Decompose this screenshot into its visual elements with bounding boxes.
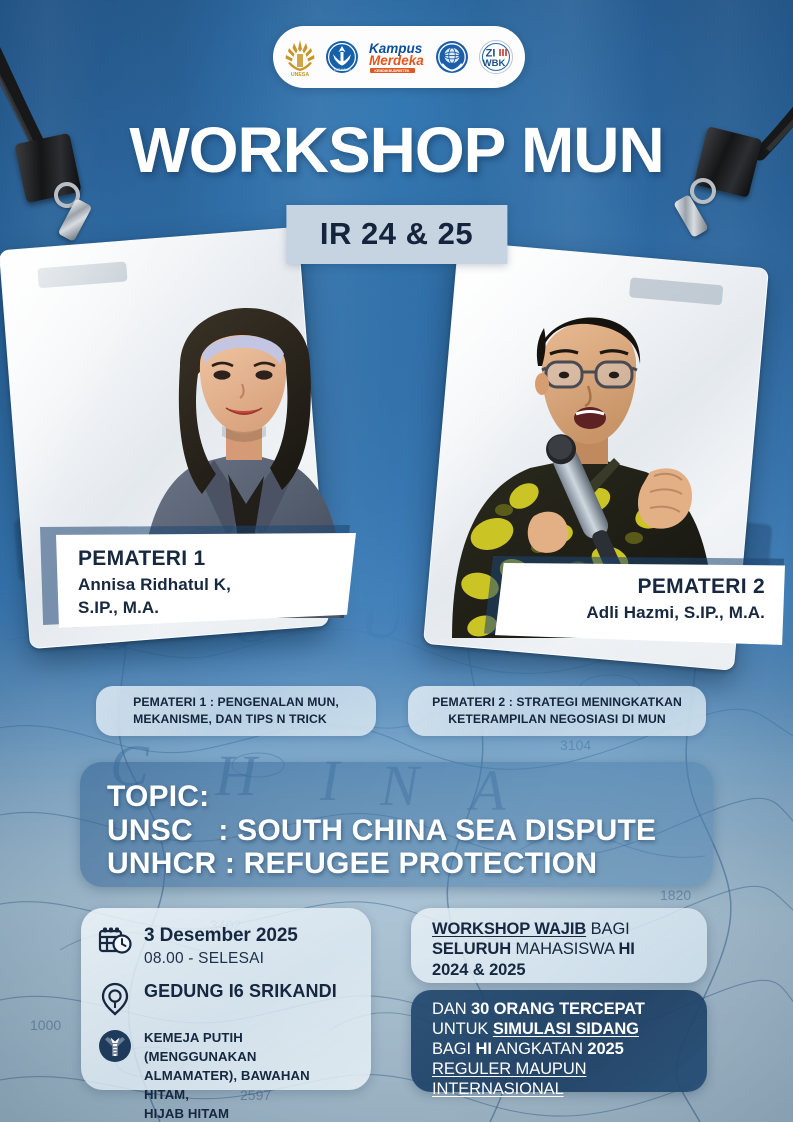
- topic-unhcr: UNHCR : REFUGEE PROTECTION: [107, 847, 713, 881]
- notice-simulation: DAN 30 ORANG TERCEPAT UNTUK SIMULASI SID…: [411, 990, 707, 1092]
- topic-heading: TOPIC:: [107, 780, 713, 814]
- svg-text:WBK: WBK: [483, 58, 506, 69]
- notice-simulation-l2a: UNTUK: [432, 1020, 493, 1038]
- info-row-date: 3 Desember 2025 08.00 - SELESAI: [97, 924, 357, 969]
- name-banner-left: PEMATERI 1 Annisa Ridhatul K, S.IP., M.A…: [56, 533, 356, 628]
- session-2-line2: KETERAMPILAN NEGOSIASI DI MUN: [448, 712, 666, 726]
- notice-mandatory-l2a: SELURUH: [432, 940, 511, 958]
- name-banner-right: PEMATERI 2 Adli Hazmi, S.IP., M.A.: [495, 563, 785, 645]
- poster-subtitle: IR 24 & 25: [320, 216, 473, 251]
- dress-code-line3: HIJAB HITAM: [144, 1104, 357, 1122]
- session-1-line1: PEMATERI 1 : PENGENALAN MUN,: [133, 695, 339, 709]
- dress-code-line1: KEMEJA PUTIH (MENGGUNAKAN: [144, 1028, 357, 1066]
- event-time: 08.00 - SELESAI: [144, 949, 357, 968]
- zi-wbk-logo: ZI WBK: [477, 38, 515, 76]
- speaker-1-role: PEMATERI 1: [78, 546, 340, 572]
- session-pill-1: PEMATERI 1 : PENGENALAN MUN, MEKANISME, …: [96, 686, 376, 736]
- notice-simulation-line1: DAN 30 ORANG TERCEPAT: [432, 1000, 707, 1020]
- notice-simulation-l3d: 2025: [587, 1040, 623, 1058]
- notice-simulation-l3a: BAGI: [432, 1040, 476, 1058]
- notice-mandatory-l1a: WORKSHOP WAJIB: [432, 920, 586, 938]
- topic-panel: TOPIC: UNSC : SOUTH CHINA SEA DISPUTE UN…: [80, 762, 713, 887]
- notice-simulation-l1a: DAN: [432, 1000, 471, 1018]
- session-1-line2: MEKANISME, DAN TIPS N TRICK: [133, 712, 327, 726]
- calendar-clock-icon: [97, 924, 133, 958]
- notice-simulation-l2b: SIMULASI SIDANG: [493, 1020, 639, 1038]
- notice-simulation-line3: BAGI HI ANGKATAN 2025: [432, 1040, 707, 1060]
- notice-simulation-l5: INTERNASIONAL: [432, 1080, 564, 1098]
- unesa-globe-emblem-logo: [434, 38, 470, 76]
- info-row-dresscode: KEMEJA PUTIH (MENGGUNAKAN ALMAMATER), BA…: [97, 1027, 357, 1122]
- shirt-tie-icon: [97, 1027, 133, 1063]
- notice-simulation-l4: REGULER MAUPUN: [432, 1060, 586, 1078]
- event-date: 3 Desember 2025: [144, 925, 357, 946]
- notice-mandatory-line2: SELURUH MAHASISWA HI: [432, 939, 707, 959]
- svg-text:KEMDIKBUDRISTEK: KEMDIKBUDRISTEK: [374, 69, 410, 73]
- session-2-line1: PEMATERI 2 : STRATEGI MENINGKATKAN: [432, 695, 682, 709]
- svg-text:TUT WURI: TUT WURI: [333, 68, 351, 72]
- poster-title: WORKSHOP MUN: [0, 118, 793, 182]
- notice-mandatory-line3: 2024 & 2025: [432, 960, 707, 980]
- event-venue: GEDUNG I6 SRIKANDI: [144, 981, 357, 1002]
- info-venue-text: GEDUNG I6 SRIKANDI: [144, 980, 357, 1002]
- logo-bar: UNESA TUT WURI Kampus Merdeka KEMDIKBUDR…: [273, 26, 525, 88]
- notice-mandatory-line1: WORKSHOP WAJIB BAGI: [432, 919, 707, 939]
- notice-mandatory: WORKSHOP WAJIB BAGI SELURUH MAHASISWA HI…: [411, 908, 707, 983]
- speaker-1-name-line2: S.IP., M.A.: [78, 597, 340, 619]
- notice-simulation-l3b: HI: [476, 1040, 492, 1058]
- svg-text:UNESA: UNESA: [291, 72, 309, 77]
- speaker-2-name-line1: Adli Hazmi, S.IP., M.A.: [509, 602, 765, 624]
- speaker-1-name-line1: Annisa Ridhatul K,: [78, 574, 340, 596]
- dress-code-line2: ALMAMATER), BAWAHAN HITAM,: [144, 1066, 357, 1104]
- unesa-logo: UNESA: [283, 37, 317, 77]
- notice-mandatory-l2b: MAHASISWA: [511, 940, 618, 958]
- notice-mandatory-l1b: BAGI: [586, 920, 630, 938]
- topic-unsc: UNSC : SOUTH CHINA SEA DISPUTE: [107, 814, 713, 848]
- tut-wuri-handayani-logo: TUT WURI: [324, 38, 360, 76]
- notice-simulation-line2: UNTUK SIMULASI SIDANG: [432, 1020, 707, 1040]
- notice-mandatory-l2c: HI: [618, 940, 634, 958]
- kampus-merdeka-logo: Kampus Merdeka KEMDIKBUDRISTEK: [367, 37, 427, 77]
- session-pill-2: PEMATERI 2 : STRATEGI MENINGKATKAN KETER…: [408, 686, 706, 736]
- info-date-text: 3 Desember 2025 08.00 - SELESAI: [144, 924, 357, 969]
- info-dresscode-text: KEMEJA PUTIH (MENGGUNAKAN ALMAMATER), BA…: [144, 1027, 357, 1122]
- event-info-card: 3 Desember 2025 08.00 - SELESAI GEDUNG I…: [81, 908, 371, 1090]
- notice-simulation-l3c: ANGKATAN: [492, 1040, 588, 1058]
- notice-simulation-line5: INTERNASIONAL: [432, 1080, 707, 1100]
- poster-subtitle-box: IR 24 & 25: [286, 205, 507, 264]
- notice-simulation-l1b: 30 ORANG TERCEPAT: [471, 1000, 645, 1018]
- speaker-2-role: PEMATERI 2: [509, 574, 765, 600]
- info-row-venue: GEDUNG I6 SRIKANDI: [97, 980, 357, 1016]
- poster-root: S O U T H C H I N A 2602 3402 2597 1000 …: [0, 0, 793, 1122]
- notice-simulation-line4: REGULER MAUPUN: [432, 1060, 707, 1080]
- card-slot-left: [37, 261, 128, 288]
- location-pin-icon: [97, 980, 133, 1016]
- svg-text:Merdeka: Merdeka: [369, 53, 424, 68]
- notice-mandatory-l3: 2024 & 2025: [432, 961, 525, 979]
